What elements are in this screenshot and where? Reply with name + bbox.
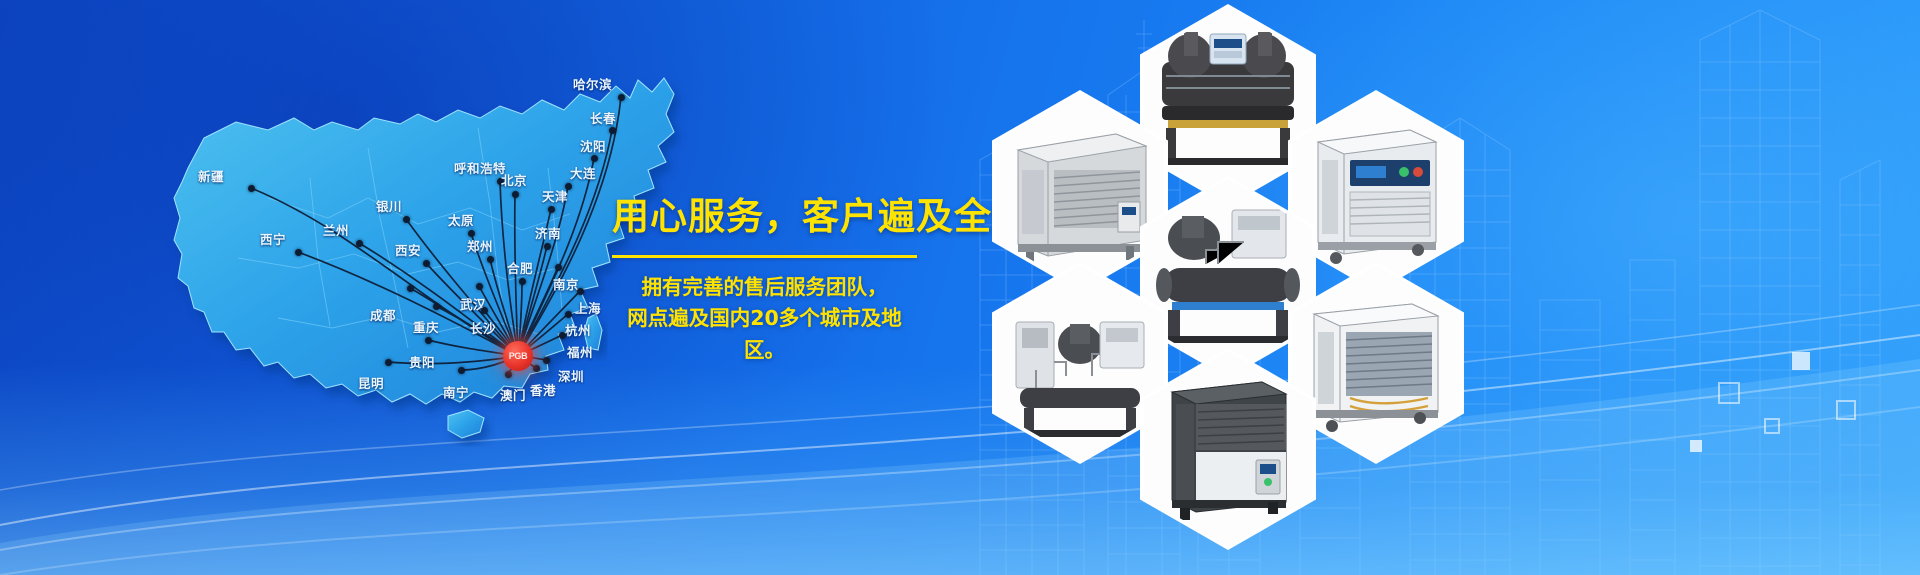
map-city-dot: [565, 311, 572, 318]
map-city-dot: [519, 278, 526, 285]
map-city-dot: [403, 216, 410, 223]
banner-subtitle-line-2: 网点遍及国内20多个城市及地区。: [612, 303, 917, 367]
map-city-label: 北京: [501, 170, 527, 189]
map-city-label: 济南: [535, 223, 561, 242]
horizontal-condensing-unit-image: [1144, 180, 1312, 374]
map-city-label: 天津: [542, 186, 568, 205]
map-city-label: 澳门: [500, 385, 526, 404]
decor-square-outline-3: [1836, 400, 1856, 420]
map-city-label: 南宁: [443, 382, 469, 401]
map-city-dot: [458, 367, 465, 374]
map-city-label: 福州: [567, 342, 593, 361]
map-city-dot: [548, 206, 555, 213]
map-city-dot: [577, 288, 584, 295]
map-city-dot: [609, 127, 616, 134]
map-hub-label: PGB: [509, 351, 528, 361]
map-city-dot: [487, 256, 494, 263]
map-city-dot: [385, 359, 392, 366]
product-hexagon-gallery: [960, 0, 1520, 575]
map-city-label: 呼和浩特: [454, 158, 506, 177]
banner-subtitle-line-1: 拥有完善的售后服务团队，: [612, 272, 917, 304]
headline-divider: [612, 255, 917, 258]
banner-headline: 用心服务，客户遍及全国: [612, 196, 972, 239]
map-city-label: 重庆: [413, 317, 439, 336]
open-frame-compressor-unit-image: [996, 266, 1164, 460]
decor-square-outline-1: [1718, 382, 1740, 404]
map-city-label: 兰州: [323, 220, 349, 239]
map-city-label: 合肥: [507, 258, 533, 277]
map-city-label: 郑州: [467, 236, 493, 255]
map-city-label: 长沙: [470, 318, 496, 337]
map-city-dot: [425, 337, 432, 344]
map-city-dot: [407, 285, 414, 292]
map-city-label: 银川: [376, 196, 402, 215]
decor-square-filled-1: [1792, 352, 1810, 370]
map-city-label: 长春: [590, 108, 616, 127]
map-city-label: 香港: [530, 380, 556, 399]
map-city-label: 西宁: [260, 229, 286, 248]
decor-square-filled-2: [1690, 440, 1702, 452]
map-city-dot: [512, 191, 519, 198]
map-city-dot: [544, 243, 551, 250]
map-city-dot: [618, 94, 625, 101]
banner-copy: 用心服务，客户遍及全国 拥有完善的售后服务团队， 网点遍及国内20多个城市及地区…: [612, 196, 972, 367]
map-city-dot: [533, 365, 540, 372]
air-cooled-chiller-coil-image: [1292, 266, 1460, 460]
map-city-label: 成都: [370, 305, 396, 324]
map-city-dot: [555, 264, 562, 271]
air-cooled-condenser-unit-image: [996, 94, 1164, 288]
map-city-dot: [423, 260, 430, 267]
map-city-dot: [481, 307, 488, 314]
map-city-dot: [248, 185, 255, 192]
map-city-dot: [476, 283, 483, 290]
map-city-label: 深圳: [558, 366, 584, 385]
map-city-dot: [433, 303, 440, 310]
map-city-dot: [356, 240, 363, 247]
map-city-dot: [543, 357, 550, 364]
map-city-label: 太原: [448, 210, 474, 229]
map-hainan-island: [448, 410, 484, 438]
map-city-dot: [591, 155, 598, 162]
water-cooled-screw-chiller-image: [1144, 8, 1312, 202]
map-city-label: 贵阳: [409, 352, 435, 371]
map-city-dot: [505, 371, 512, 378]
map-city-label: 新疆: [198, 166, 224, 185]
map-city-label: 上海: [575, 298, 601, 317]
map-city-dot: [559, 332, 566, 339]
map-city-label: 哈尔滨: [573, 74, 612, 93]
map-city-label: 昆明: [358, 373, 384, 392]
map-city-label: 西安: [395, 240, 421, 259]
map-city-label: 沈阳: [580, 136, 606, 155]
map-city-dot: [295, 249, 302, 256]
decor-square-outline-2: [1764, 418, 1780, 434]
map-city-label: 南京: [553, 274, 579, 293]
map-city-label: 杭州: [565, 320, 591, 339]
box-type-industrial-chiller-image: [1292, 94, 1460, 288]
promo-banner: 哈尔滨长春沈阳大连呼和浩特北京天津银川太原济南兰州西安郑州新疆西宁合肥南京武汉长…: [0, 0, 1920, 575]
cabinet-type-chiller-image: [1144, 352, 1312, 546]
map-city-label: 大连: [570, 163, 596, 182]
map-hub-marker: PGB: [503, 341, 533, 371]
